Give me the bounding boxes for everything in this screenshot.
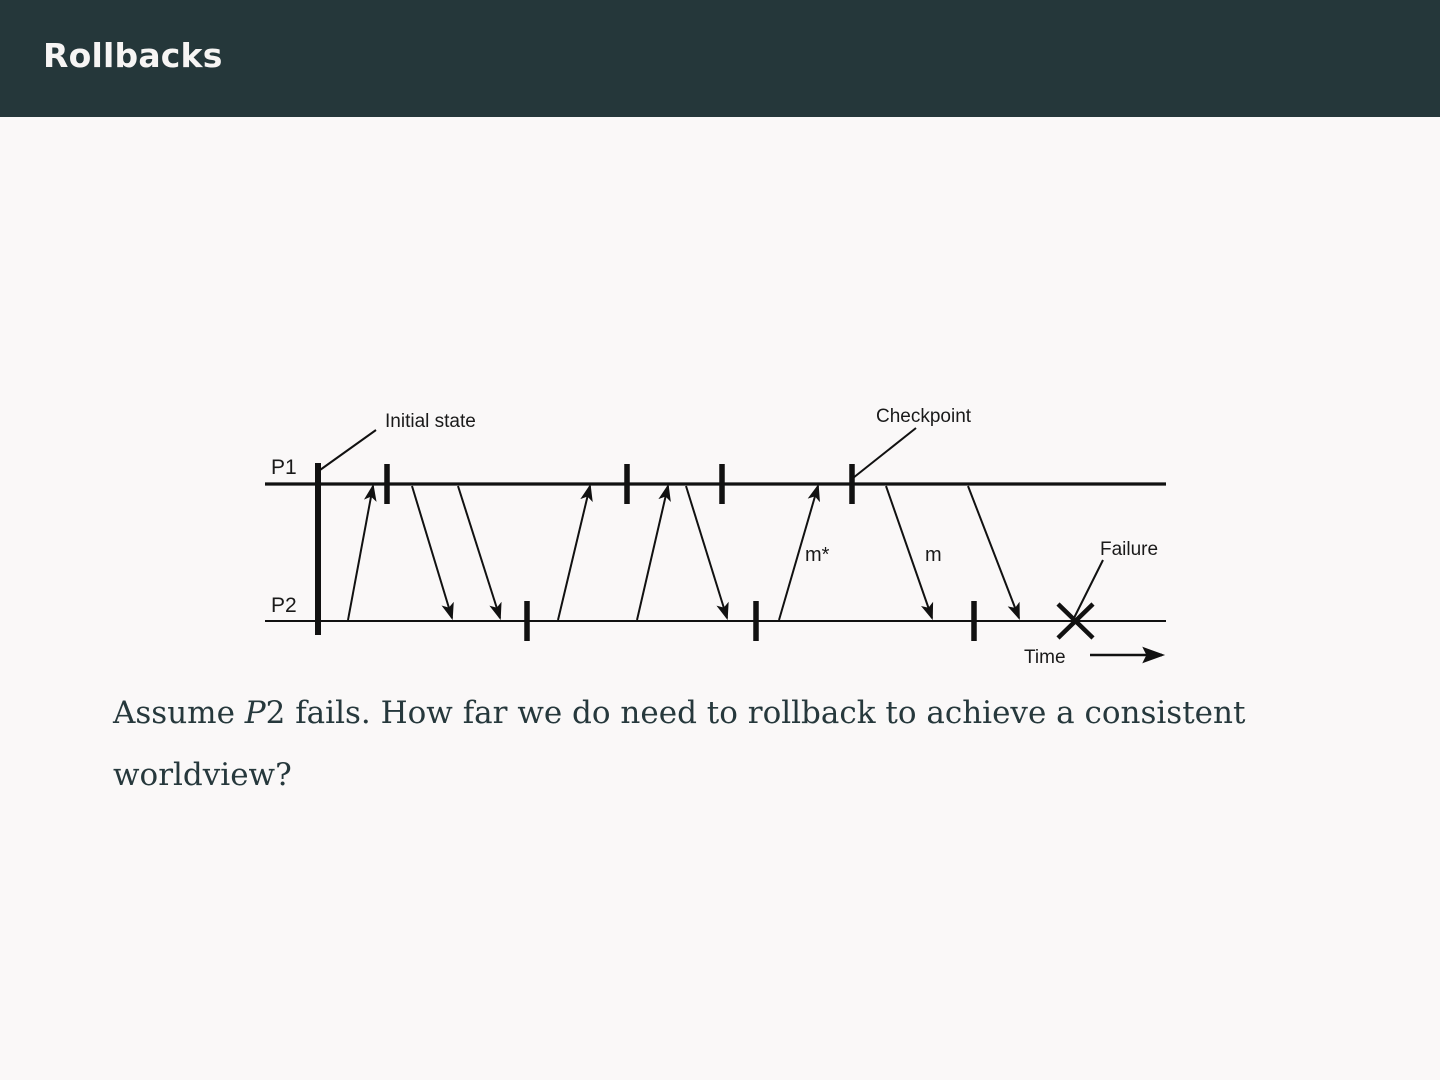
initial-state-label: Initial state [385, 411, 476, 432]
message-arrow-3 [458, 486, 500, 618]
question-part1: Assume [113, 695, 245, 731]
slide-root: Rollbacks P1 P2 [0, 0, 1440, 1080]
question-paragraph: Assume P2 fails. How far we do need to r… [113, 682, 1248, 806]
message-arrow-2 [412, 486, 452, 618]
page-title: Rollbacks [43, 36, 223, 75]
process-label-p2: P2 [271, 594, 297, 617]
message-arrow-1 [348, 486, 373, 620]
question-italic-p: P [245, 695, 266, 731]
initial-state-annotation: Initial state [320, 411, 476, 470]
message-arrow-4 [558, 486, 590, 620]
rollback-timeline-diagram: P1 P2 [0, 380, 1440, 680]
process-label-p1: P1 [271, 456, 297, 479]
timeline-svg: P1 P2 [0, 380, 1440, 680]
message-arrow-6 [686, 486, 727, 618]
question-part2: 2 fails. How far we do need to rollback … [113, 695, 1245, 793]
message-arrow-m-star: m* [779, 486, 830, 620]
message-arrow-m: m [886, 486, 942, 618]
slide-header-bar: Rollbacks [0, 0, 1440, 117]
checkpoint-annotation: Checkpoint [853, 406, 972, 478]
time-axis: Time [1024, 647, 1162, 668]
message-arrow-5 [637, 486, 668, 620]
time-label: Time [1024, 647, 1066, 668]
failure-label: Failure [1100, 539, 1158, 560]
failure-annotation: Failure [1074, 539, 1158, 618]
message-arrow-9 [968, 486, 1019, 618]
message-label-m-star: m* [805, 544, 830, 566]
message-label-m: m [925, 544, 942, 566]
checkpoint-label: Checkpoint [876, 406, 972, 427]
